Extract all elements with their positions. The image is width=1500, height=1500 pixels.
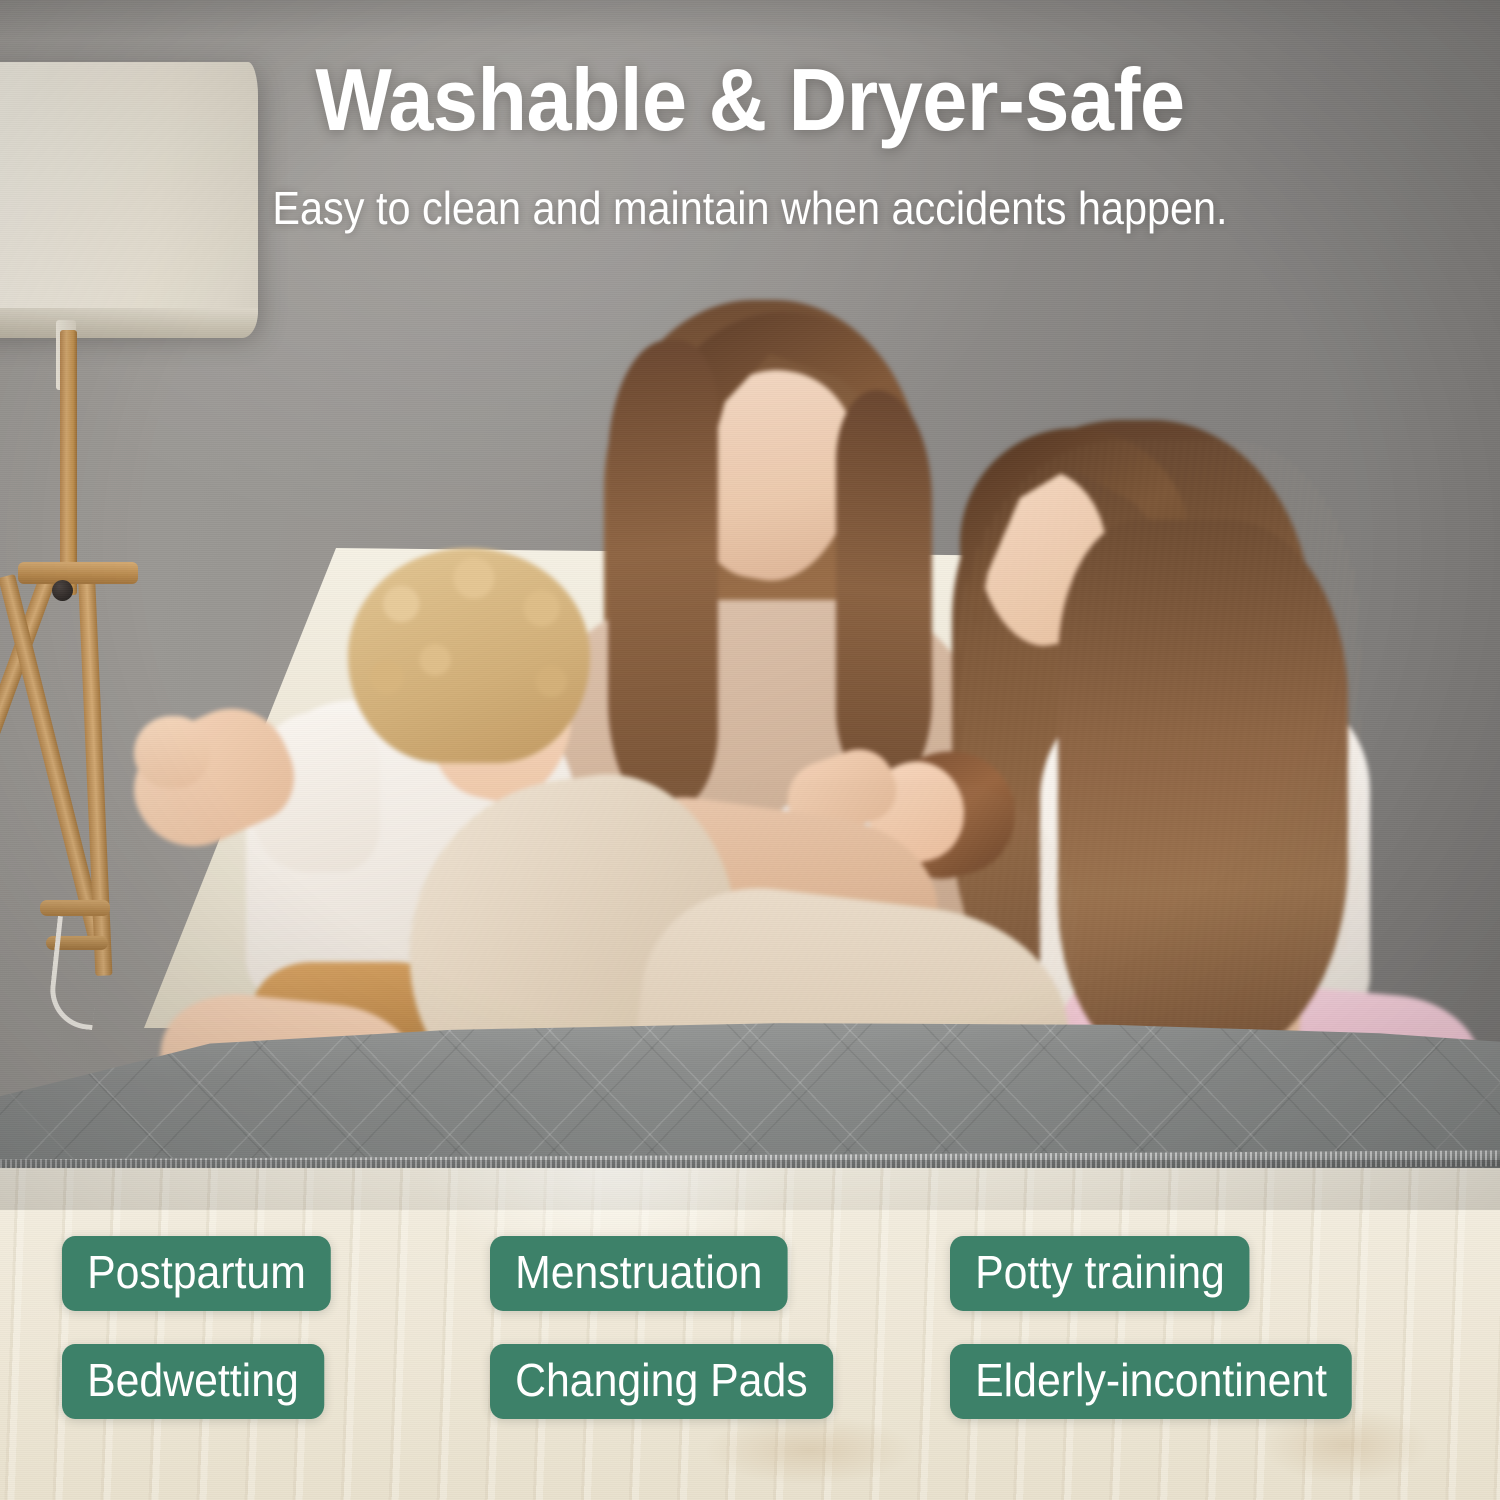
use-case-badges: Postpartum Menstruation Potty training B… bbox=[0, 1236, 1500, 1426]
badge-potty-training[interactable]: Potty training bbox=[950, 1236, 1250, 1311]
badge-bedwetting[interactable]: Bedwetting bbox=[62, 1344, 324, 1419]
badge-cell: Changing Pads bbox=[480, 1344, 950, 1419]
badge-menstruation[interactable]: Menstruation bbox=[490, 1236, 788, 1311]
badge-cell: Bedwetting bbox=[0, 1344, 480, 1419]
badge-changing-pads[interactable]: Changing Pads bbox=[490, 1344, 833, 1419]
badge-row-2: Bedwetting Changing Pads Elderly-inconti… bbox=[0, 1344, 1500, 1419]
subheadline: Easy to clean and maintain when accident… bbox=[75, 184, 1425, 234]
headline: Washable & Dryer-safe bbox=[60, 56, 1440, 144]
badge-postpartum[interactable]: Postpartum bbox=[62, 1236, 331, 1311]
badge-cell: Elderly-incontinent bbox=[950, 1344, 1500, 1419]
badge-elderly-incontinent[interactable]: Elderly-incontinent bbox=[950, 1344, 1352, 1419]
product-lifestyle-image: Washable & Dryer-safe Easy to clean and … bbox=[0, 0, 1500, 1500]
badge-row-1: Postpartum Menstruation Potty training bbox=[0, 1236, 1500, 1311]
badge-cell: Potty training bbox=[950, 1236, 1500, 1311]
badge-cell: Menstruation bbox=[480, 1236, 950, 1311]
badge-cell: Postpartum bbox=[0, 1236, 480, 1311]
